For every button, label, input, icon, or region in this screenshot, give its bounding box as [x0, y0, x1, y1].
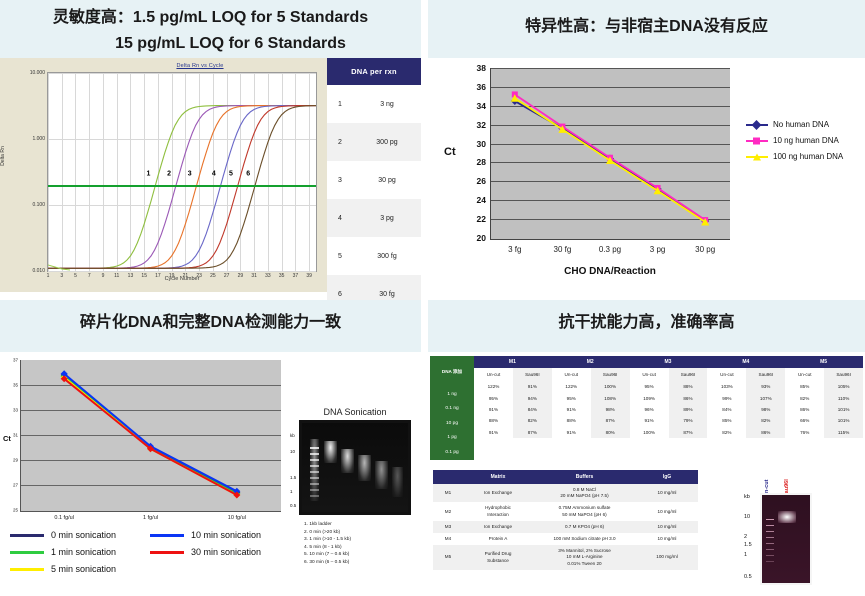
ct-chart: Ct CHO DNA/Reaction 20222426283032343638… — [428, 58, 865, 292]
specificity-header: 特异性高：与非宿主DNA没有反应 — [428, 0, 865, 58]
sonication-ladder-label: 1.5 — [290, 475, 296, 480]
recovery-cell: 101% — [824, 415, 863, 426]
fragmentation-y-axis-label: Ct — [3, 434, 11, 443]
recovery-cell: 96% — [630, 404, 669, 415]
recovery-cell: 95% — [474, 392, 513, 403]
dna-table-row: 43 pg — [327, 199, 421, 237]
ct-y-tick: 30 — [477, 139, 486, 149]
recovery-cell: 94% — [513, 392, 552, 403]
recovery-cell: 98% — [746, 404, 785, 415]
fragmentation-content: Ct 373533312927250.1 fg/ul1 fg/ul10 fg/u… — [0, 352, 421, 596]
matrix-cell-igg: 100 mg/ml — [636, 545, 698, 570]
fragmentation-legend-label: 5 min sonication — [51, 564, 116, 574]
ct-legend-label: 100 ng human DNA — [773, 152, 843, 161]
matrix-cell-matrix: Ion Exchange — [463, 484, 533, 502]
sonication-ladder-rung — [310, 477, 319, 479]
recovery-cell: 82% — [513, 415, 552, 426]
fragmentation-legend: 0 min sonication10 min sonication1 min s… — [10, 530, 290, 581]
sonication-gel-band — [324, 441, 337, 463]
panel-sensitivity: 灵敏度高：1.5 pg/mL LOQ for 5 Standards 15 pg… — [0, 0, 421, 292]
fragmentation-legend-label: 10 min sonication — [191, 530, 261, 540]
matrix-table-row: M3Ion Exchange0.7 M KPO4 (pH 6)10 mg/ml — [433, 521, 698, 533]
igg-ladder-rung — [766, 549, 774, 550]
ct-legend: No human DNA10 ng human DNA100 ng human … — [746, 120, 843, 168]
recovery-row-header-column: DNA 添加 1 ng0.1 ng10 pg1 pg0.1 pg — [430, 356, 474, 460]
recovery-cell: 86% — [746, 427, 785, 438]
fragmentation-title: 碎片化DNA和完整DNA检测能力一致 — [0, 310, 421, 336]
recovery-cell: 87% — [513, 427, 552, 438]
igg-ladder-rung — [766, 525, 774, 526]
recovery-cell: 89% — [669, 404, 708, 415]
fragmentation-x-tick: 10 fg/ul — [228, 515, 246, 521]
amplification-x-tick: 21 — [183, 273, 189, 279]
igg-ladder-label: 1 — [744, 552, 747, 558]
recovery-cell: 108% — [591, 392, 630, 403]
dna-sonication-block: DNA Sonication kb101.510.5 1. 1kb ladder… — [292, 407, 418, 567]
ct-y-tick: 32 — [477, 120, 486, 130]
dna-table-header: DNA per rxn — [327, 58, 421, 85]
amplification-curve-label: 3 — [188, 171, 192, 178]
amplification-x-tick: 15 — [141, 273, 147, 279]
recovery-row-label: 1 pg — [430, 431, 474, 446]
igg-ladder-rung — [766, 531, 774, 532]
recovery-row-label: 0.1 pg — [430, 445, 474, 460]
sonication-gel-band — [341, 449, 354, 473]
fragmentation-legend-item: 10 min sonication — [150, 530, 290, 540]
sonication-ladder-rung — [310, 489, 319, 491]
igg-ladder-label: 2 — [744, 534, 747, 540]
sonication-gel-band — [392, 467, 403, 497]
fragmentation-header: 碎片化DNA和完整DNA检测能力一致 — [0, 300, 421, 352]
igg-gel-image — [760, 493, 812, 585]
amplification-curve-label: 5 — [229, 171, 233, 178]
sonication-lane-note: 4. 5 min (8 - 1 kb) — [304, 544, 418, 552]
ct-y-axis-label: Ct — [444, 146, 456, 158]
fragmentation-y-tick: 35 — [13, 383, 18, 388]
recovery-cell: 86% — [785, 404, 824, 415]
recovery-cell: 85% — [785, 381, 824, 392]
panel-specificity: 特异性高：与非宿主DNA没有反应 Ct CHO DNA/Reaction 202… — [428, 0, 865, 292]
fragmentation-x-tick: 1 fg/ul — [143, 515, 158, 521]
recovery-cell: 105% — [824, 381, 863, 392]
ct-legend-swatch — [746, 156, 768, 158]
recovery-cell: 82% — [785, 392, 824, 403]
sonication-ladder-rung — [310, 471, 319, 473]
fragmentation-y-tick: 33 — [13, 408, 18, 413]
matrix-cell-buffers: 3% Mannitol, 2% Sucrose10 mM L-Arginine0… — [533, 545, 636, 570]
ct-y-tick: 34 — [477, 101, 486, 111]
sonication-ladder-rung — [310, 453, 319, 455]
recovery-row-label: 10 pg — [430, 416, 474, 431]
ct-y-tick: 26 — [477, 176, 486, 186]
recovery-cell: 88% — [669, 381, 708, 392]
igg-ladder-rung — [766, 555, 774, 556]
matrix-cell-buffers: 100 mM Sodium citrate pH 3.0 — [533, 533, 636, 545]
matrix-cell-matrix: Ion Exchange — [463, 521, 533, 533]
recovery-matrix-label: M5 — [785, 356, 863, 368]
sonication-gel-image: kb101.510.5 — [299, 420, 411, 515]
recovery-cell: 107% — [746, 392, 785, 403]
recovery-subheader-cell: Sau96I — [513, 368, 552, 381]
matrix-table-row: M4Protein A100 mM Sodium citrate pH 3.01… — [433, 533, 698, 545]
fragmentation-legend-swatch — [150, 551, 184, 554]
amplification-curve-label: 1 — [147, 171, 151, 178]
amplification-plot-area: 1357911131517192123252729313335373910.00… — [47, 72, 317, 272]
dna-row-amount: 30 fg — [353, 291, 421, 298]
fragmentation-legend-swatch — [10, 568, 44, 571]
recovery-cell: 66% — [785, 415, 824, 426]
ct-x-axis-label: CHO DNA/Reaction — [490, 266, 730, 277]
recovery-cell: 80% — [591, 427, 630, 438]
recovery-matrix-label: M3 — [630, 356, 708, 368]
amplification-x-tick: 39 — [306, 273, 312, 279]
recovery-subheader-cell: Sau96I — [591, 368, 630, 381]
ct-x-tick: 3 fg — [508, 245, 521, 254]
fragmentation-legend-item: 30 min sonication — [150, 547, 290, 557]
recovery-cell: 82% — [707, 427, 746, 438]
amplification-x-tick: 31 — [251, 273, 257, 279]
recovery-corner-label: DNA 添加 — [430, 356, 474, 387]
fragmentation-x-tick: 0.1 fg/ul — [54, 515, 74, 521]
sonication-ladder-label: 1 — [290, 489, 293, 494]
recovery-cell: 95% — [552, 392, 591, 403]
recovery-subheader-row: Un-cutSau96IUn-cutSau96IUn-cutSau96IUn-c… — [474, 368, 863, 381]
igg-ladder-rung — [766, 519, 774, 520]
recovery-cell: 91% — [552, 404, 591, 415]
fragmentation-legend-label: 30 min sonication — [191, 547, 261, 557]
matrix-header-id — [433, 470, 463, 484]
dna-table-row: 330 pg — [327, 161, 421, 199]
sonication-lane-note: 1. 1kb ladder — [304, 521, 418, 529]
recovery-cell: 91% — [630, 415, 669, 426]
amplification-curves — [48, 73, 316, 271]
fragmentation-y-tick: 25 — [13, 508, 18, 513]
igg-ladder-label: 10 — [744, 514, 750, 520]
sonication-ladder-rung — [310, 447, 319, 449]
recovery-cell: 122% — [552, 381, 591, 392]
ct-x-tick: 0.3 pg — [599, 245, 621, 254]
matrix-cell-id: M5 — [433, 545, 463, 570]
recovery-subheader-cell: Un-cut — [630, 368, 669, 381]
amplification-x-tick: 19 — [169, 273, 175, 279]
fragmentation-legend-swatch — [10, 551, 44, 554]
matrix-cell-buffers: 0.7 M KPO4 (pH 6) — [533, 521, 636, 533]
ct-x-tick: 3 pg — [650, 245, 666, 254]
matrix-header-buffers: Buffers — [533, 470, 636, 484]
panel-interference: 抗干扰能力高，准确率高 DNA 添加 1 ng0.1 ng10 pg1 pg0.… — [428, 300, 865, 596]
sonication-ladder-rung — [310, 465, 319, 467]
igg-ladder-rung — [766, 561, 774, 562]
fragmentation-legend-label: 0 min sonication — [51, 530, 116, 540]
specificity-title: 特异性高：与非宿主DNA没有反应 — [428, 14, 865, 40]
fragmentation-legend-item: 1 min sonication — [10, 547, 150, 557]
recovery-table-row: 122%91%122%100%95%88%103%93%85%105% — [474, 381, 863, 392]
matrix-table-row: M1Ion Exchange0.8 M NaCl20 mM NaPO4 (pH … — [433, 484, 698, 502]
sonication-ladder-label: 10 — [290, 449, 295, 454]
amplification-curve-label: 2 — [167, 171, 171, 178]
amplification-x-tick: 3 — [60, 273, 63, 279]
ct-series-layer — [491, 68, 729, 238]
dna-row-amount: 30 pg — [353, 177, 421, 184]
sonication-lane-note: 5. 10 min (7 – 0.6 kb) — [304, 551, 418, 559]
recovery-subheader-cell: Sau96I — [669, 368, 708, 381]
ct-y-tick: 22 — [477, 214, 486, 224]
igg-gel-band — [778, 511, 796, 523]
recovery-subheader-cell: Sau96I — [746, 368, 785, 381]
dna-row-index: 1 — [327, 101, 353, 108]
matrix-cell-igg: 10 mg/ml — [636, 533, 698, 545]
recovery-table-row: 91%87%91%80%100%87%82%86%76%115% — [474, 427, 863, 438]
ct-legend-item: No human DNA — [746, 120, 843, 129]
amplification-y-tick: 0.010 — [32, 268, 45, 274]
recovery-table-row: 88%82%88%87%91%79%85%82%66%101% — [474, 415, 863, 426]
recovery-subheader-cell: Un-cut — [552, 368, 591, 381]
interference-title: 抗干扰能力高，准确率高 — [428, 310, 865, 336]
igg-ladder-rung — [766, 543, 774, 544]
matrix-cell-igg: 10 mg/ml — [636, 502, 698, 520]
recovery-cell: 91% — [552, 427, 591, 438]
dna-row-amount: 300 fg — [353, 253, 421, 260]
recovery-cell: 100% — [591, 381, 630, 392]
fragmentation-y-tick: 31 — [13, 433, 18, 438]
interference-header: 抗干扰能力高，准确率高 — [428, 300, 865, 352]
amplification-x-tick: 25 — [210, 273, 216, 279]
sonication-title: DNA Sonication — [292, 407, 418, 417]
matrix-cell-id: M1 — [433, 484, 463, 502]
recovery-cell: 110% — [824, 392, 863, 403]
matrix-cell-matrix: Purified DrugSubstance — [463, 545, 533, 570]
amplification-x-tick: 27 — [224, 273, 230, 279]
matrix-cell-id: M2 — [433, 502, 463, 520]
amplification-x-tick: 37 — [293, 273, 299, 279]
recovery-cell: 109% — [630, 392, 669, 403]
dna-row-index: 4 — [327, 215, 353, 222]
recovery-cell: 88% — [474, 415, 513, 426]
sonication-gel-band — [358, 455, 371, 481]
recovery-cell: 91% — [513, 381, 552, 392]
dna-row-amount: 3 pg — [353, 215, 421, 222]
dna-table-row: 13 ng — [327, 85, 421, 123]
recovery-subheader-cell: Un-cut — [707, 368, 746, 381]
sonication-lane-note: 6. 30 min (6 – 0.5 kb) — [304, 559, 418, 567]
ct-legend-label: 10 ng human DNA — [773, 136, 839, 145]
matrix-header-igg: IgG — [636, 470, 698, 484]
recovery-matrix-label: M1 — [474, 356, 552, 368]
recovery-table-row: 95%94%95%108%109%86%99%107%82%110% — [474, 392, 863, 403]
recovery-matrix-header-row: M1M2M3M4M5 — [474, 356, 863, 368]
fragmentation-legend-label: 1 min sonication — [51, 547, 116, 557]
amplification-x-tick: 7 — [88, 273, 91, 279]
sonication-lane-note: 2. 0 min (>20 kb) — [304, 529, 418, 537]
matrix-table-row: M2HydrophobicInteraction0.75M Ammonium s… — [433, 502, 698, 520]
recovery-subheader-cell: Un-cut — [474, 368, 513, 381]
fragmentation-legend-swatch — [150, 534, 184, 537]
amplification-y-axis-label: Delta Rn — [0, 111, 6, 201]
dna-row-amount: 3 ng — [353, 101, 421, 108]
ct-legend-swatch — [746, 124, 768, 126]
amplification-x-tick: 13 — [128, 273, 134, 279]
amplification-x-tick: 29 — [238, 273, 244, 279]
dna-row-index: 3 — [327, 177, 353, 184]
fragmentation-legend-item: 0 min sonication — [10, 530, 150, 540]
recovery-row-label: 0.1 ng — [430, 402, 474, 417]
amplification-y-tick: 10.000 — [30, 70, 45, 76]
igg-ladder-rung — [766, 537, 774, 538]
amplification-x-tick: 23 — [196, 273, 202, 279]
sonication-ladder-label: kb — [290, 433, 295, 438]
sensitivity-header: 灵敏度高：1.5 pg/mL LOQ for 5 Standards 15 pg… — [0, 0, 421, 58]
sonication-ladder-rung — [310, 459, 319, 461]
igg-gel-block: Un-cutSau96I kb1021.510.5 — [718, 465, 858, 590]
recovery-cell: 86% — [669, 392, 708, 403]
matrix-cell-matrix: HydrophobicInteraction — [463, 502, 533, 520]
amplification-curve-label: 6 — [246, 171, 250, 178]
recovery-cell: 91% — [474, 427, 513, 438]
amplification-chart-title: Delta Rn vs Cycle — [110, 63, 290, 69]
fragmentation-series-line — [64, 376, 237, 494]
recovery-cell: 100% — [630, 427, 669, 438]
matrix-cell-igg: 10 mg/ml — [636, 521, 698, 533]
recovery-cell: 99% — [707, 392, 746, 403]
ct-legend-marker — [752, 120, 762, 130]
matrix-header-matrix: Matrix — [463, 470, 533, 484]
recovery-cell: 79% — [669, 415, 708, 426]
panel-fragmentation: 碎片化DNA和完整DNA检测能力一致 Ct 373533312927250.1 … — [0, 300, 421, 596]
matrix-cell-buffers: 0.8 M NaCl20 mM NaPO4 (pH 7.5) — [533, 484, 636, 502]
matrix-buffer-table: Matrix Buffers IgG M1Ion Exchange0.8 M N… — [433, 470, 698, 570]
ct-plot-area: 202224262830323436383 fg30 fg0.3 pg3 pg3… — [490, 68, 730, 240]
sonication-ladder-rung — [310, 495, 319, 497]
amplification-threshold-line — [48, 185, 316, 187]
slide-root: 灵敏度高：1.5 pg/mL LOQ for 5 Standards 15 pg… — [0, 0, 865, 596]
amplification-x-tick: 33 — [265, 273, 271, 279]
recovery-cell: 93% — [746, 381, 785, 392]
matrix-cell-igg: 10 mg/ml — [636, 484, 698, 502]
recovery-cell: 98% — [591, 404, 630, 415]
recovery-cell: 91% — [474, 404, 513, 415]
fragmentation-series-layer — [21, 360, 280, 510]
ct-legend-label: No human DNA — [773, 120, 829, 129]
recovery-subheader-cell: Un-cut — [785, 368, 824, 381]
recovery-cell: 87% — [669, 427, 708, 438]
dna-row-index: 2 — [327, 139, 353, 146]
fragmentation-series-line — [64, 374, 237, 492]
igg-ladder-label: 1.5 — [744, 542, 752, 548]
amplification-x-tick: 9 — [102, 273, 105, 279]
recovery-cell: 85% — [707, 415, 746, 426]
sensitivity-title-line2: 15 pg/mL LOQ for 6 Standards — [0, 31, 421, 57]
recovery-cell: 82% — [746, 415, 785, 426]
amplification-x-tick: 11 — [114, 273, 119, 279]
recovery-cell: 84% — [513, 404, 552, 415]
fragmentation-series-line — [64, 375, 237, 493]
amplification-y-tick: 0.100 — [32, 202, 45, 208]
matrix-table-row: M5Purified DrugSubstance3% Mannitol, 2% … — [433, 545, 698, 570]
matrix-cell-id: M4 — [433, 533, 463, 545]
ct-y-tick: 24 — [477, 195, 486, 205]
sensitivity-title-line1: 灵敏度高：1.5 pg/mL LOQ for 5 Standards — [0, 5, 421, 31]
amplification-x-tick: 1 — [47, 273, 50, 279]
recovery-cell: 84% — [707, 404, 746, 415]
sonication-lane-notes: 1. 1kb ladder2. 0 min (>20 kb)3. 1 min (… — [292, 521, 418, 567]
fragmentation-plot-area: 373533312927250.1 fg/ul1 fg/ul10 fg/ul — [20, 360, 281, 512]
matrix-table-header: Matrix Buffers IgG — [433, 470, 698, 484]
matrix-cell-buffers: 0.75M Ammonium sulfate50 mM NaPO4 (pH 6) — [533, 502, 636, 520]
ct-legend-item: 10 ng human DNA — [746, 136, 843, 145]
ct-x-tick: 30 pg — [695, 245, 715, 254]
recovery-cell: 88% — [552, 415, 591, 426]
ct-y-tick: 20 — [477, 233, 486, 243]
amplification-x-tick: 35 — [279, 273, 285, 279]
igg-ladder-label: 0.5 — [744, 574, 752, 580]
fragmentation-y-tick: 27 — [13, 483, 18, 488]
dna-table-row: 5300 fg — [327, 237, 421, 275]
recovery-table-row: 91%84%91%98%96%89%84%98%86%101% — [474, 404, 863, 415]
recovery-subheader-cell: Sau96I — [824, 368, 863, 381]
igg-ladder-label: kb — [744, 494, 750, 500]
recovery-cell: 76% — [785, 427, 824, 438]
amplification-y-tick: 1.000 — [32, 136, 45, 142]
recovery-row-label: 1 ng — [430, 387, 474, 402]
fragmentation-y-tick: 37 — [13, 358, 18, 363]
ct-y-tick: 36 — [477, 82, 486, 92]
fragmentation-legend-item: 5 min sonication — [10, 564, 150, 574]
matrix-cell-matrix: Protein A — [463, 533, 533, 545]
ct-x-tick: 30 fg — [553, 245, 571, 254]
fragmentation-legend-swatch — [10, 534, 44, 537]
ct-legend-item: 100 ng human DNA — [746, 152, 843, 161]
recovery-cell: 95% — [630, 381, 669, 392]
sonication-ladder-rung — [310, 483, 319, 485]
recovery-cell: 103% — [707, 381, 746, 392]
recovery-cell: 115% — [824, 427, 863, 438]
amplification-curve-label: 4 — [212, 171, 216, 178]
ct-legend-marker — [753, 137, 760, 144]
recovery-cell: 87% — [591, 415, 630, 426]
dna-row-index: 5 — [327, 253, 353, 260]
ct-legend-marker — [753, 153, 761, 160]
dna-per-rxn-table: DNA per rxn 13 ng2300 pg330 pg43 pg5300 … — [327, 58, 421, 313]
sonication-lane-note: 3. 1 min (>10 - 1.5 kb) — [304, 536, 418, 544]
ct-y-tick: 38 — [477, 63, 486, 73]
amplification-x-tick: 5 — [74, 273, 77, 279]
sonication-gel-band — [375, 461, 388, 489]
recovery-cell: 101% — [824, 404, 863, 415]
dna-row-index: 6 — [327, 291, 353, 298]
fragmentation-y-tick: 29 — [13, 458, 18, 463]
matrix-cell-id: M3 — [433, 521, 463, 533]
amplification-gridline-h — [48, 271, 316, 272]
recovery-matrix-label: M4 — [707, 356, 785, 368]
recovery-cell: 122% — [474, 381, 513, 392]
dna-table-row: 2300 pg — [327, 123, 421, 161]
dna-row-amount: 300 pg — [353, 139, 421, 146]
recovery-matrix-label: M2 — [552, 356, 630, 368]
recovery-table: DNA 添加 1 ng0.1 ng10 pg1 pg0.1 pg M1M2M3M… — [430, 356, 863, 460]
ct-y-tick: 28 — [477, 157, 486, 167]
amplification-x-tick: 17 — [155, 273, 161, 279]
sonication-ladder-label: 0.5 — [290, 503, 296, 508]
amplification-baseline — [48, 265, 70, 270]
ct-legend-swatch — [746, 140, 768, 142]
